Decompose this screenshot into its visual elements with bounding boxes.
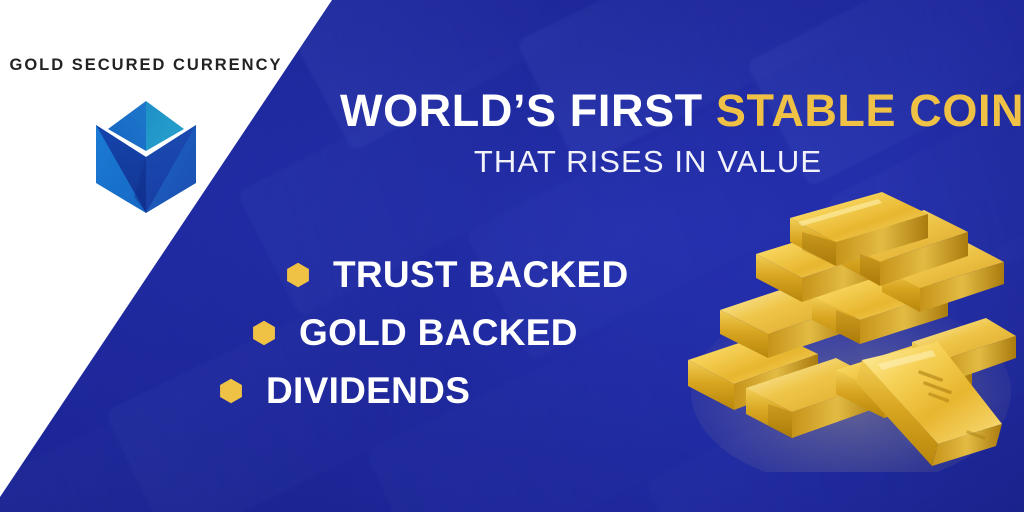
list-item: GOLD BACKED — [0, 304, 680, 362]
headline-secondary: THAT RISES IN VALUE — [340, 144, 956, 180]
headline-block: WORLD’S FIRST STABLE COIN THAT RISES IN … — [340, 88, 956, 180]
hexagon-bullet-icon — [285, 262, 311, 288]
brand-logo: GOLD SECURED CURRENCY — [0, 56, 292, 221]
feature-label: DIVIDENDS — [266, 370, 470, 412]
hexagon-bullet-icon — [251, 320, 277, 346]
open-cube-logo-icon — [82, 93, 210, 221]
list-item: DIVIDENDS — [0, 362, 680, 420]
gold-bullion-stack-image — [686, 192, 1016, 472]
hexagon-bullet-icon — [218, 378, 244, 404]
feature-list: TRUST BACKED GOLD BACKED DIVIDENDS — [0, 246, 680, 420]
headline-primary-accent: STABLE COIN — [716, 85, 1024, 136]
brand-wordmark: GOLD SECURED CURRENCY — [0, 56, 292, 75]
headline-primary: WORLD’S FIRST STABLE COIN — [340, 88, 956, 134]
promotional-banner: GOLD SECURED CURRENCY — [0, 0, 1024, 512]
headline-primary-white: WORLD’S FIRST — [340, 85, 716, 136]
feature-label: TRUST BACKED — [333, 254, 628, 296]
list-item: TRUST BACKED — [0, 246, 680, 304]
feature-label: GOLD BACKED — [299, 312, 578, 354]
